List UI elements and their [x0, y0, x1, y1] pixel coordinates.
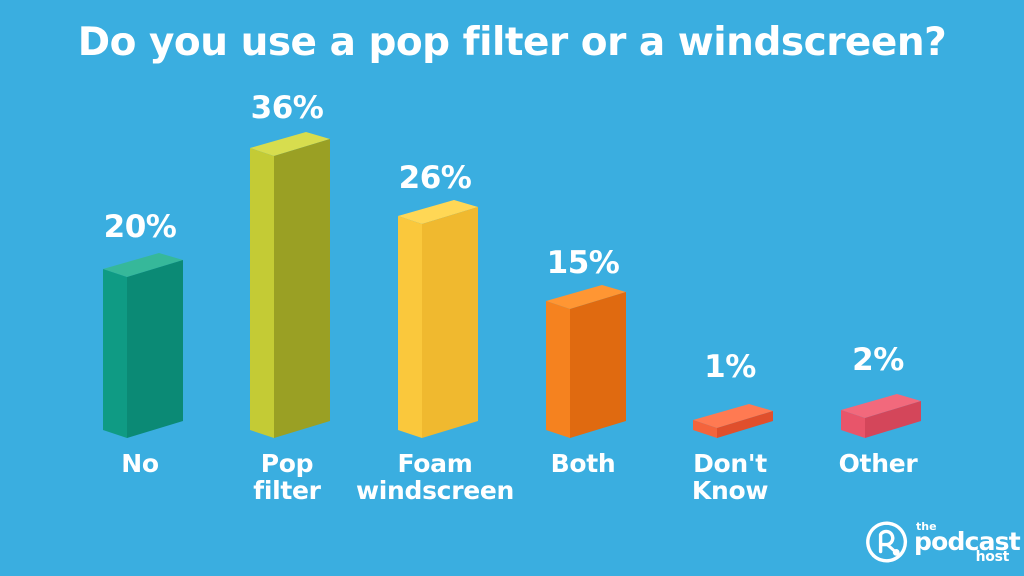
- bar-label-dont-know-line2: Know: [643, 477, 817, 504]
- bar-group-pop-filter: 36% Pop filter: [212, 0, 362, 576]
- bar-shape-no[interactable]: [103, 253, 183, 438]
- bar-shape-other[interactable]: [841, 394, 921, 438]
- bar-value-both: 15%: [508, 248, 658, 279]
- bar-value-foam-windscreen: 26%: [360, 163, 510, 194]
- podcast-host-logo-mark-icon: [865, 520, 909, 564]
- podcast-host-logo[interactable]: the podcast host: [865, 518, 1010, 566]
- bar-value-other: 2%: [803, 345, 953, 376]
- bar-group-dont-know: 1% Don't Know: [655, 0, 805, 576]
- bar-group-no: 20% No: [65, 0, 215, 576]
- bar-shape-both[interactable]: [546, 285, 626, 438]
- chart-plot-area: 20% No 36%: [0, 0, 1024, 576]
- podcast-host-wordmark: the podcast host: [914, 520, 1010, 564]
- bar-label-other: Other: [791, 450, 965, 477]
- bar-shape-pop-filter[interactable]: [250, 132, 330, 438]
- bar-label-foam-windscreen-line2: windscreen: [348, 477, 522, 504]
- bar-value-dont-know: 1%: [655, 352, 805, 383]
- bar-group-foam-windscreen: 26% Foam windscreen: [360, 0, 510, 576]
- bar-value-pop-filter: 36%: [212, 93, 362, 124]
- bar-label-other-line1: Other: [791, 450, 965, 477]
- bar-value-no: 20%: [65, 212, 215, 243]
- bar-group-both: 15% Both: [508, 0, 658, 576]
- bar-shape-dont-know[interactable]: [693, 404, 773, 438]
- bar-group-other: 2% Other: [803, 0, 953, 576]
- logo-text-host: host: [976, 550, 1009, 564]
- infographic-canvas: Do you use a pop filter or a windscreen?…: [0, 0, 1024, 576]
- bar-shape-foam-windscreen[interactable]: [398, 200, 478, 438]
